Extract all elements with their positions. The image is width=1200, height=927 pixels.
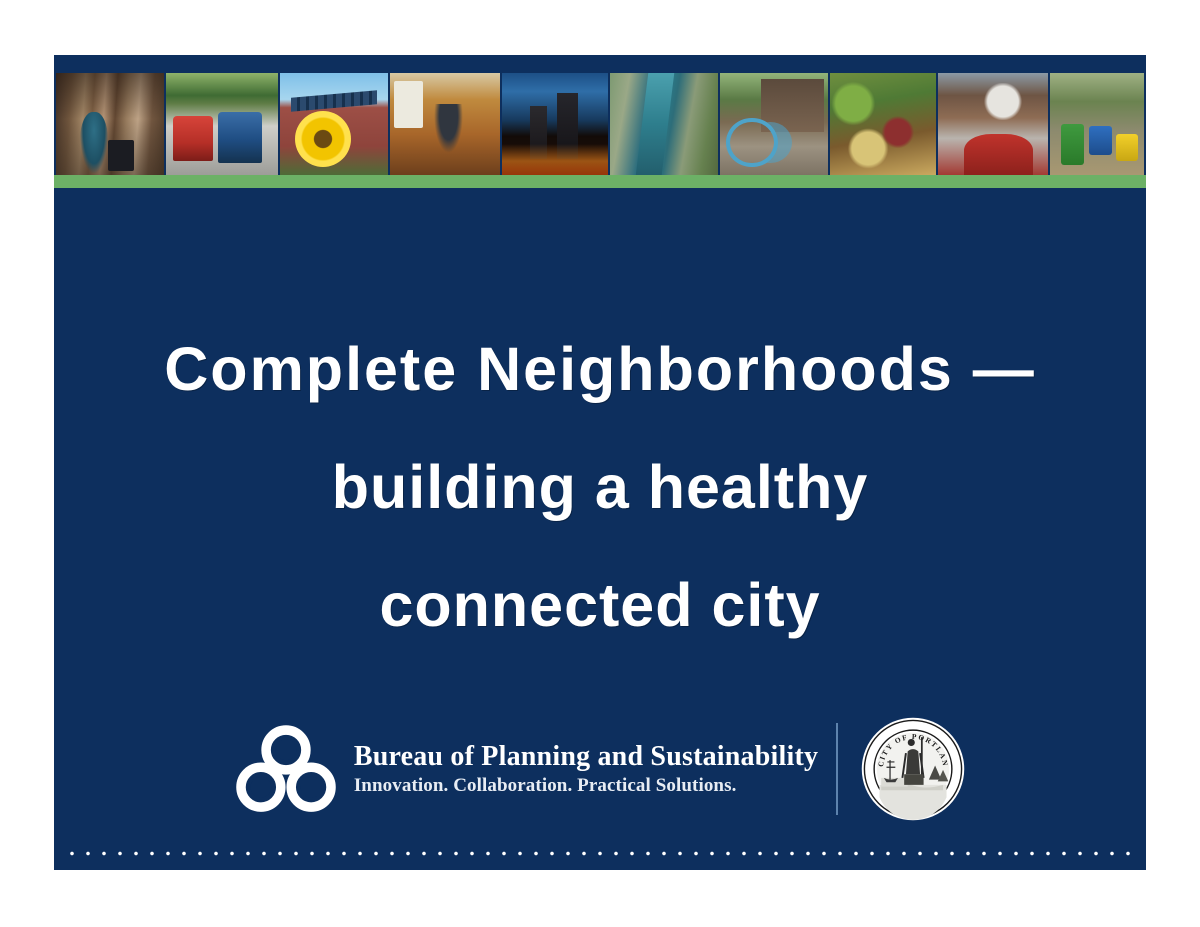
willamette-river-aerial-photo: [610, 73, 718, 175]
bureau-logo-lockup: Bureau of Planning and Sustainability In…: [234, 724, 818, 814]
streetcar-transit-photo: [166, 73, 278, 175]
portland-skyline-night-photo: [502, 73, 608, 175]
title-line-1: Complete Neighborhoods —: [54, 310, 1146, 428]
bps-trefoil-logo: [234, 724, 338, 814]
bureau-text-block: Bureau of Planning and Sustainability In…: [354, 742, 818, 796]
bureau-tagline: Innovation. Collaboration. Practical Sol…: [354, 776, 818, 796]
footer-vertical-divider: [836, 723, 838, 815]
street-pedestrians-photo: [56, 73, 164, 175]
bicycle-parking-photo: [720, 73, 828, 175]
green-accent-band: [54, 175, 1146, 188]
header-photo-strip: [54, 73, 1146, 175]
community-meeting-photo: [390, 73, 500, 175]
dotted-rule: [64, 851, 1136, 856]
skyline-glow-shape: [502, 144, 608, 175]
sunflower-shape: [295, 111, 351, 167]
footer-logo-row: Bureau of Planning and Sustainability In…: [54, 716, 1146, 822]
solar-house-sunflower-photo: [280, 73, 388, 175]
slide-title: Complete Neighborhoods — building a heal…: [54, 310, 1146, 664]
presentation-slide: Complete Neighborhoods — building a heal…: [54, 55, 1146, 870]
bureau-name: Bureau of Planning and Sustainability: [354, 742, 818, 771]
green-recycling-bin-shape: [1061, 124, 1084, 165]
farmers-market-produce-photo: [830, 73, 936, 175]
solar-panel-shape: [291, 91, 377, 113]
city-of-portland-seal: CITY OF PORTLAND OREGON 1851: [860, 716, 966, 822]
smiling-children-photo: [938, 73, 1048, 175]
blue-recycling-bin-shape: [1089, 126, 1112, 155]
recycling-bins-photo: [1050, 73, 1144, 175]
yellow-recycling-bin-shape: [1116, 134, 1139, 161]
title-line-2: building a healthy: [54, 428, 1146, 546]
title-line-3: connected city: [54, 546, 1146, 664]
